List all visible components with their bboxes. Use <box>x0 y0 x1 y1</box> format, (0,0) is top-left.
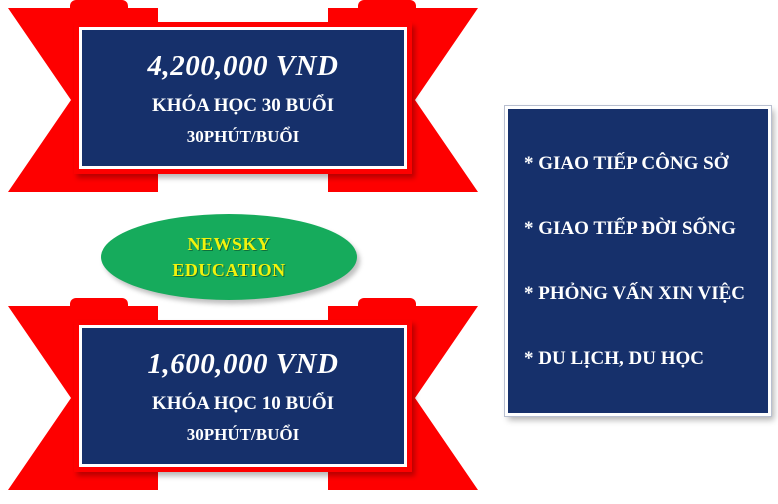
session-duration-top: 30PHÚT/BUỔI <box>187 127 299 147</box>
feature-item: * GIAO TIẾP CÔNG SỞ <box>508 153 768 175</box>
feature-item: * PHỎNG VẤN XIN VIỆC <box>508 283 768 305</box>
price-card-top-inner: 4,200,000 VND KHÓA HỌC 30 BUỔI 30PHÚT/BU… <box>79 27 407 169</box>
price-card-top: 4,200,000 VND KHÓA HỌC 30 BUỔI 30PHÚT/BU… <box>74 22 412 174</box>
price-card-bottom: 1,600,000 VND KHÓA HỌC 10 BUỔI 30PHÚT/BU… <box>74 320 412 472</box>
feature-item: * GIAO TIẾP ĐỜI SỐNG <box>508 218 768 240</box>
price-amount-top: 4,200,000 VND <box>148 50 339 83</box>
price-banner-bottom: 1,600,000 VND KHÓA HỌC 10 BUỔI 30PHÚT/BU… <box>8 298 478 498</box>
brand-name-line2: EDUCATION <box>172 257 285 283</box>
session-duration-bottom: 30PHÚT/BUỔI <box>187 425 299 445</box>
price-amount-bottom: 1,600,000 VND <box>148 348 339 381</box>
course-sessions-top: KHÓA HỌC 30 BUỔI <box>152 95 334 117</box>
brand-logo: NEWSKY EDUCATION <box>101 214 357 300</box>
brand-name-line1: NEWSKY <box>187 231 270 257</box>
feature-item: * DU LỊCH, DU HỌC <box>508 348 768 370</box>
price-card-bottom-inner: 1,600,000 VND KHÓA HỌC 10 BUỔI 30PHÚT/BU… <box>79 325 407 467</box>
price-banner-top: 4,200,000 VND KHÓA HỌC 30 BUỔI 30PHÚT/BU… <box>8 0 478 200</box>
features-panel: * GIAO TIẾP CÔNG SỞ * GIAO TIẾP ĐỜI SỐNG… <box>505 106 771 416</box>
course-sessions-bottom: KHÓA HỌC 10 BUỔI <box>152 393 334 415</box>
